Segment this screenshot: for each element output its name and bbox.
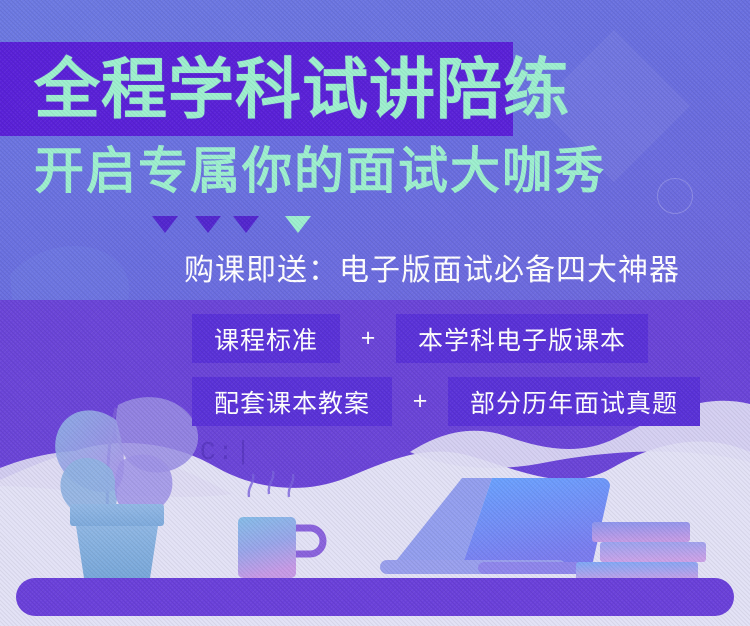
triangle-marker-2 bbox=[195, 216, 221, 233]
doodle-text: C:| bbox=[200, 437, 253, 467]
page-subtitle: 开启专属你的面试大咖秀 bbox=[34, 140, 606, 202]
perk-box-course-standard[interactable]: 课程标准 bbox=[192, 314, 340, 363]
page-title: 全程学科试讲陪练 bbox=[34, 48, 570, 130]
perk-box-digital-textbook[interactable]: 本学科电子版课本 bbox=[396, 314, 648, 363]
perk-plus-1: + bbox=[340, 324, 396, 353]
desk-surface bbox=[16, 578, 734, 616]
perk-row-1: 课程标准 + 本学科电子版课本 bbox=[192, 314, 648, 363]
perk-plus-2: + bbox=[392, 387, 448, 416]
circle-decoration bbox=[657, 178, 693, 214]
triangle-marker-1 bbox=[152, 216, 178, 233]
perk-box-past-questions[interactable]: 部分历年面试真题 bbox=[448, 377, 700, 426]
gift-headline: 购课即送：电子版面试必备四大神器 bbox=[184, 252, 680, 290]
triangle-marker-3 bbox=[233, 216, 259, 233]
promo-poster: C:| 全程学科试讲陪练 开启专属你的面试大咖秀 购课即送：电子版面试必备四大神… bbox=[0, 0, 750, 626]
perk-box-lesson-plans[interactable]: 配套课本教案 bbox=[192, 377, 392, 426]
perk-row-2: 配套课本教案 + 部分历年面试真题 bbox=[192, 377, 700, 426]
triangle-marker-4 bbox=[285, 216, 311, 233]
